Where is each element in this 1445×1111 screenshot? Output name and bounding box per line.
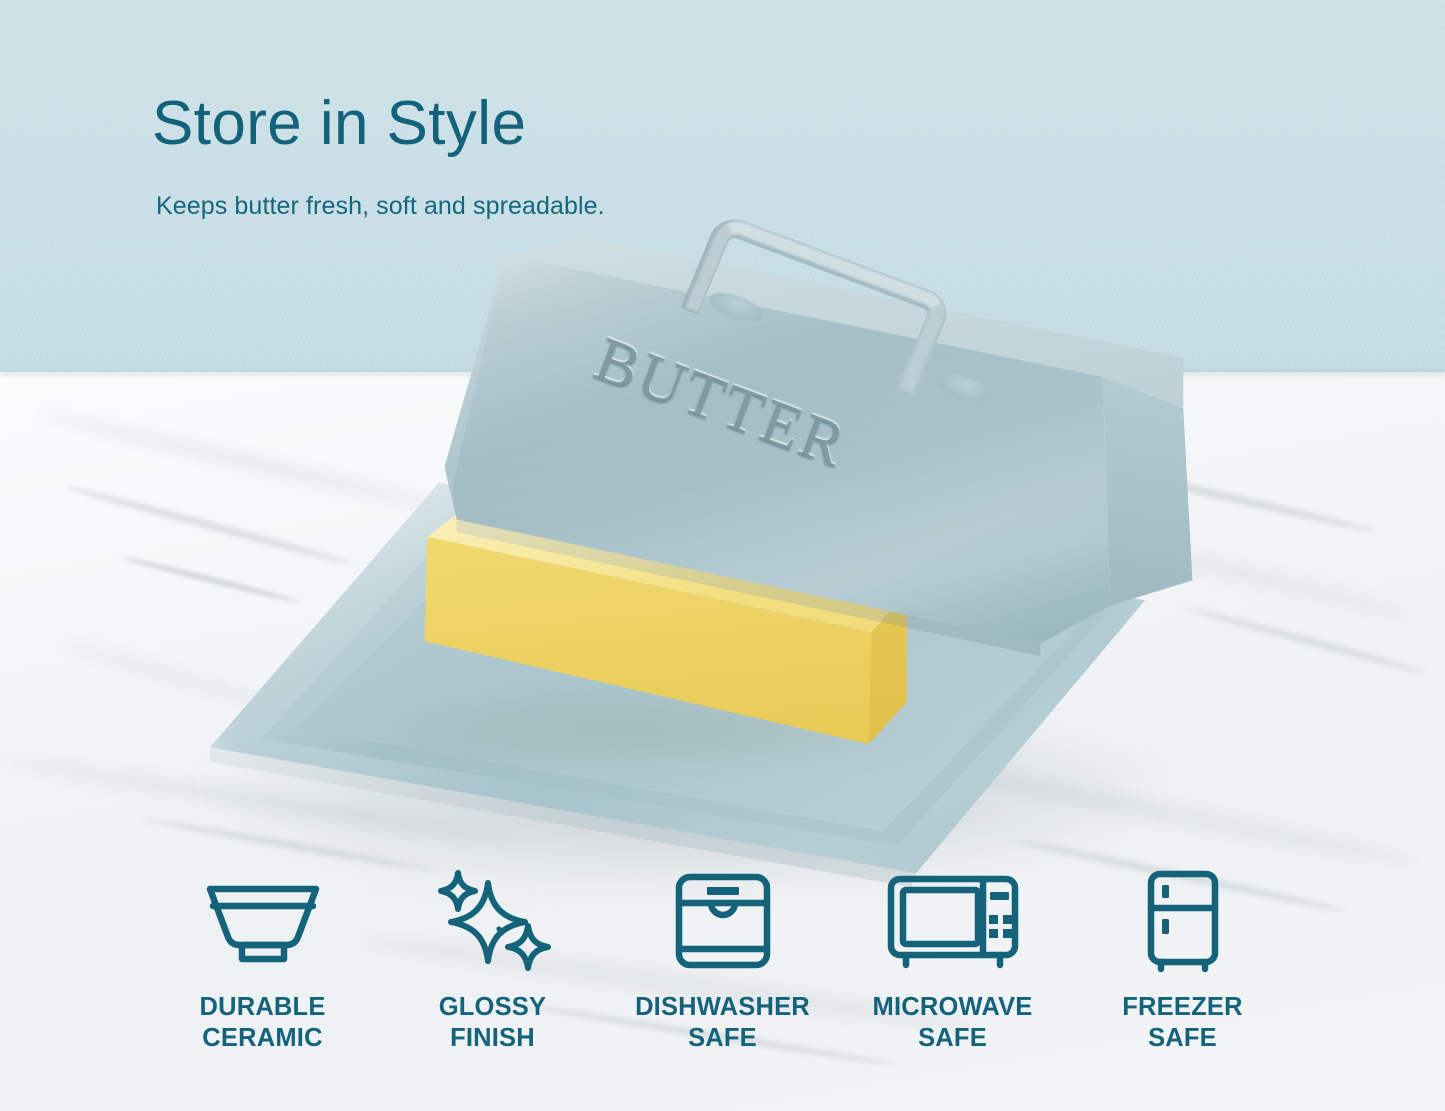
feature-label: GLOSSY FINISH <box>439 992 546 1054</box>
page-title: Store in Style <box>152 88 526 160</box>
feature-durable-ceramic: DURABLE CERAMIC <box>148 868 378 1054</box>
feature-freezer-safe: FREEZER SAFE <box>1068 868 1298 1054</box>
butter-dish-lid: BUTTER <box>440 236 1200 656</box>
feature-label: DURABLE CERAMIC <box>199 992 325 1054</box>
refrigerator-icon <box>1142 868 1224 974</box>
feature-microwave-safe: MICROWAVE SAFE <box>838 868 1068 1054</box>
feature-dishwasher-safe: DISHWASHER SAFE <box>608 868 838 1054</box>
sparkle-icon <box>433 868 553 974</box>
feature-label: FREEZER SAFE <box>1122 992 1242 1054</box>
lid-handle <box>720 212 970 332</box>
feature-glossy-finish: GLOSSY FINISH <box>378 868 608 1054</box>
feature-label: MICROWAVE SAFE <box>873 992 1033 1054</box>
microwave-icon <box>886 868 1020 974</box>
feature-label: DISHWASHER SAFE <box>635 992 810 1054</box>
bowl-icon <box>202 868 324 974</box>
page-subtitle: Keeps butter fresh, soft and spreadable. <box>156 190 605 222</box>
dishwasher-icon <box>673 868 773 974</box>
product-feature-banner: Store in Style Keeps butter fresh, soft … <box>0 0 1445 1111</box>
feature-icons-row: DURABLE CERAMIC GLOSSY FINISH <box>0 868 1445 1083</box>
